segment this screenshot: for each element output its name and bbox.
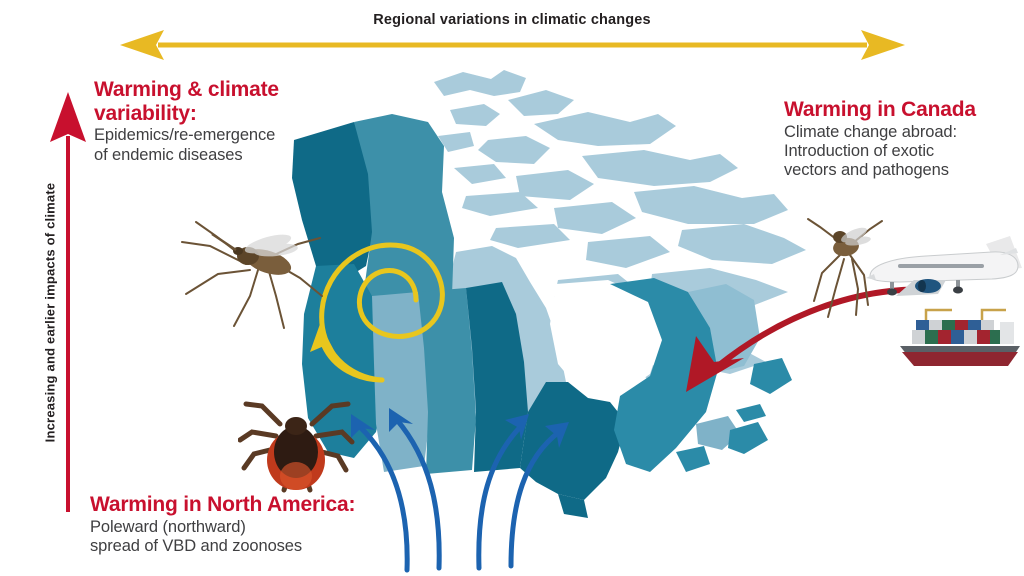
callout-heading: Warming in North America: [90, 493, 440, 517]
cargo-ship-illustration [896, 308, 1024, 370]
province-prince-edward-island [736, 404, 766, 422]
mosquito-illustration [172, 212, 332, 332]
callout-body-line2: spread of VBD and zoonoses [90, 537, 440, 556]
callout-body-line2: of endemic diseases [94, 146, 344, 165]
callout-warming-climate-variability: Warming & climate variability: Epidemics… [94, 78, 344, 165]
top-axis-label: Regional variations in climatic changes [0, 12, 1024, 28]
tick-illustration [238, 388, 356, 500]
callout-body-line2: Introduction of exotic [784, 142, 1024, 161]
figure-canvas: Regional variations in climatic changes … [0, 0, 1024, 576]
callout-warming-in-canada: Warming in Canada Climate change abroad:… [784, 98, 1024, 181]
callout-heading-line1: Warming & climate [94, 78, 344, 102]
airplane-illustration [860, 222, 1024, 308]
callout-heading-line2: variability: [94, 102, 344, 126]
vertical-axis-label: Increasing and earlier impacts of climat… [43, 113, 58, 513]
callout-heading: Warming in Canada [784, 98, 1024, 122]
callout-body-line1: Poleward (northward) [90, 518, 440, 537]
callout-body-line1: Climate change abroad: [784, 123, 1024, 142]
gaspe-region [676, 446, 710, 472]
callout-body-line3: vectors and pathogens [784, 161, 1024, 180]
callout-body-line1: Epidemics/re-emergence [94, 126, 344, 145]
callout-warming-in-north-america: Warming in North America: Poleward (nort… [90, 493, 440, 556]
